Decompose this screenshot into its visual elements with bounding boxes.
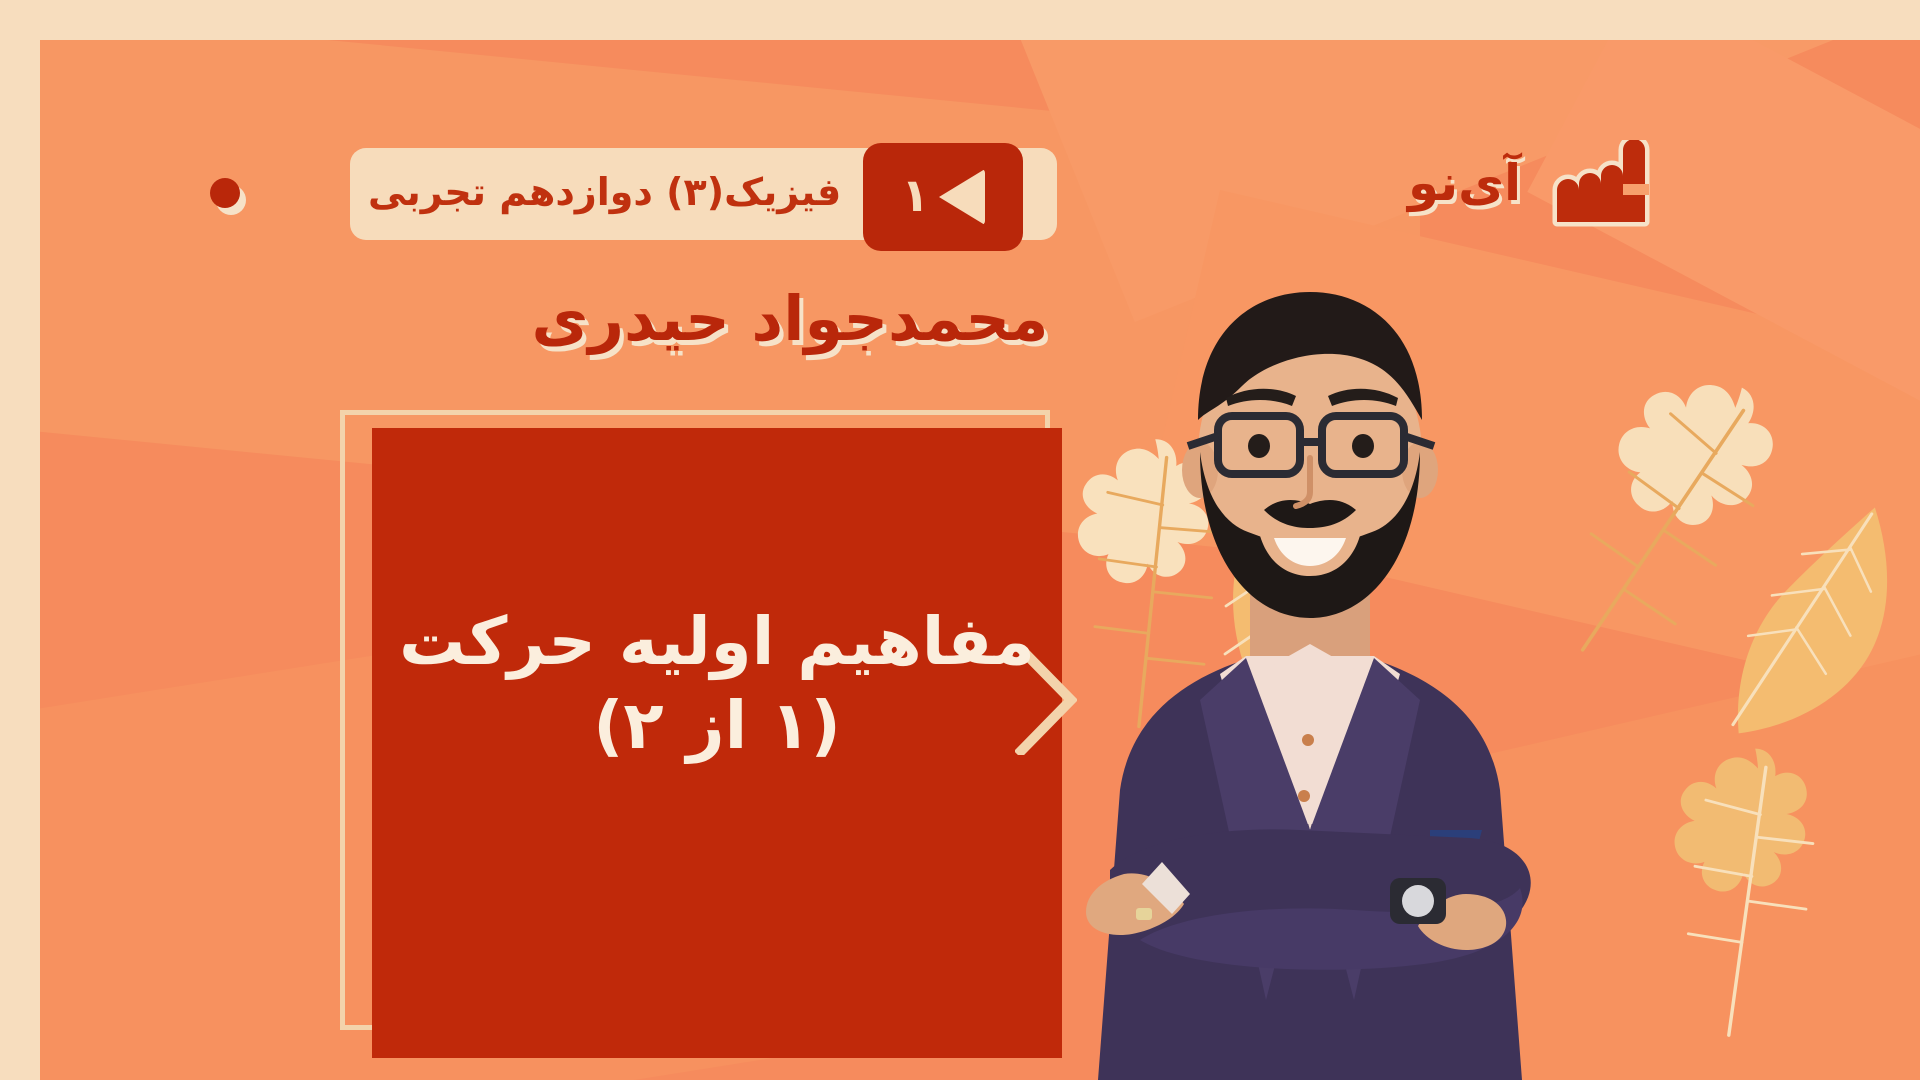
thumbnail-canvas: فیزیک(۳) دوازدهم تجربی ۱ محمدجواد حیدری … xyxy=(0,0,1920,1080)
play-triangle-icon xyxy=(939,169,985,225)
lesson-title-line2: (۱ از ۲) xyxy=(372,684,1062,768)
hand-bars-logo-icon xyxy=(1537,140,1657,232)
decorative-dot-left xyxy=(210,178,240,208)
thumbnail-card: فیزیک(۳) دوازدهم تجربی ۱ محمدجواد حیدری … xyxy=(40,40,1920,1080)
brand-name: آی‌نو xyxy=(1408,158,1521,214)
course-pill[interactable]: فیزیک(۳) دوازدهم تجربی ۱ xyxy=(350,148,1057,240)
instructor-name: محمدجواد حیدری xyxy=(510,288,1070,350)
lesson-title: مفاهیم اولیه حرکت (۱ از ۲) xyxy=(372,600,1062,769)
episode-number: ۱ xyxy=(901,172,929,222)
lesson-title-line1: مفاهیم اولیه حرکت xyxy=(399,603,1035,680)
course-label: فیزیک(۳) دوازدهم تجربی xyxy=(368,173,841,215)
episode-badge[interactable]: ۱ xyxy=(863,143,1023,251)
brand-logo[interactable]: آی‌نو xyxy=(1408,140,1657,232)
instructor-portrait xyxy=(1050,270,1710,1080)
